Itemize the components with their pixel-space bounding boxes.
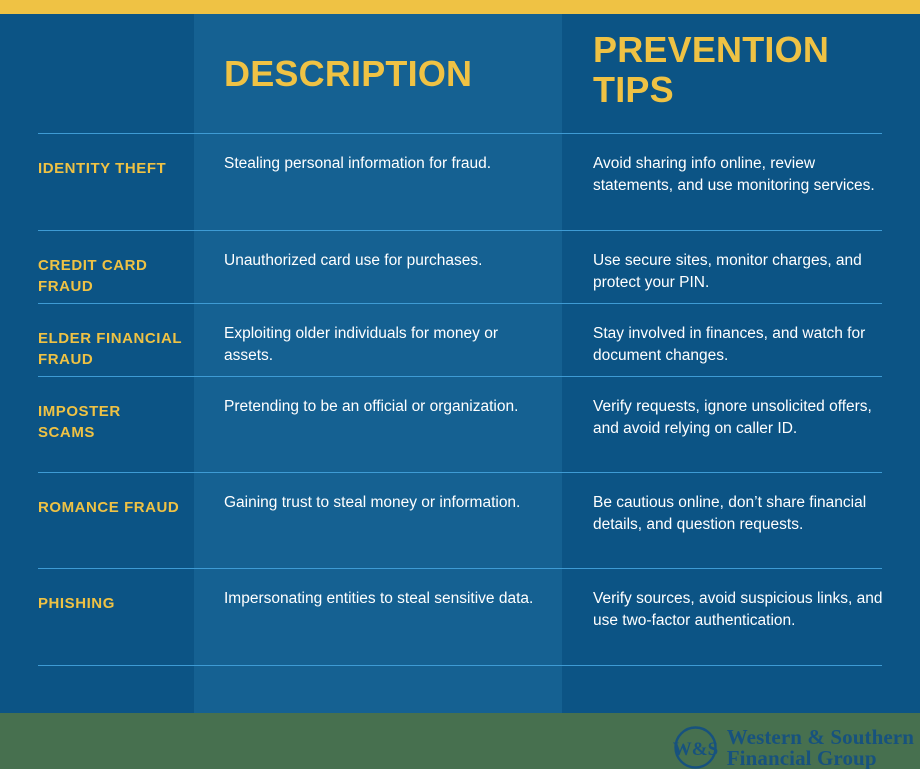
row-cell-prevention: Use secure sites, monitor charges, and p…	[562, 250, 920, 295]
row-cell-description: Stealing personal information for fraud.	[194, 153, 562, 175]
table-row-trailing	[0, 665, 920, 696]
row-divider	[38, 665, 882, 666]
row-cell-prevention: Verify sources, avoid suspicious links, …	[562, 588, 920, 633]
row-divider	[38, 472, 882, 473]
table-row: ROMANCE FRAUD Gaining trust to steal mon…	[0, 472, 920, 568]
header-label-description: DESCRIPTION	[224, 54, 536, 94]
table-row: PHISHING Impersonating entities to steal…	[0, 568, 920, 665]
row-cell-description: Unauthorized card use for purchases.	[194, 250, 562, 272]
fraud-description-text: Gaining trust to steal money or informat…	[224, 492, 536, 514]
row-divider	[38, 376, 882, 377]
header-cell-description: DESCRIPTION	[194, 14, 562, 94]
fraud-type-label: ROMANCE FRAUD	[38, 492, 182, 519]
fraud-description-text: Stealing personal information for fraud.	[224, 153, 536, 175]
row-divider	[38, 230, 882, 231]
row-cell-description: Exploiting older individuals for money o…	[194, 323, 562, 368]
fraud-type-label: PHISHING	[38, 588, 182, 615]
fraud-prevention-text: Use secure sites, monitor charges, and p…	[593, 250, 890, 295]
row-cell-type: IMPOSTER SCAMS	[0, 396, 194, 443]
fraud-description-text: Unauthorized card use for purchases.	[224, 250, 536, 272]
brand-logo: W&S Western & Southern Financial Group	[673, 725, 914, 769]
row-cell-type: ROMANCE FRAUD	[0, 492, 194, 519]
row-cell-prevention: Stay involved in finances, and watch for…	[562, 323, 920, 368]
brand-line-2: Financial Group	[727, 748, 914, 769]
row-cell-type: PHISHING	[0, 588, 194, 615]
table-header-row: DESCRIPTION PREVENTION TIPS	[0, 14, 920, 133]
header-label-prevention: PREVENTION TIPS	[593, 30, 890, 111]
fraud-prevention-text: Be cautious online, don’t share financia…	[593, 492, 890, 537]
row-cell-type: ELDER FINANCIAL FRAUD	[0, 323, 194, 370]
infographic-page: DESCRIPTION PREVENTION TIPS IDENTITY THE…	[0, 0, 920, 769]
brand-wordmark: Western & Southern Financial Group	[727, 727, 914, 768]
row-cell-description: Gaining trust to steal money or informat…	[194, 492, 562, 514]
table-row: ELDER FINANCIAL FRAUD Exploiting older i…	[0, 303, 920, 376]
fraud-comparison-table: DESCRIPTION PREVENTION TIPS IDENTITY THE…	[0, 14, 920, 696]
table-row: IDENTITY THEFT Stealing personal informa…	[0, 133, 920, 230]
fraud-type-label: ELDER FINANCIAL FRAUD	[38, 323, 182, 370]
page-footer: W&S Western & Southern Financial Group	[0, 713, 920, 769]
fraud-prevention-text: Avoid sharing info online, review statem…	[593, 153, 890, 198]
row-cell-type: IDENTITY THEFT	[0, 153, 194, 180]
row-cell-type: CREDIT CARD FRAUD	[0, 250, 194, 297]
row-cell-prevention: Be cautious online, don’t share financia…	[562, 492, 920, 537]
brand-line-1: Western & Southern	[727, 727, 914, 748]
row-cell-description: Pretending to be an official or organiza…	[194, 396, 562, 418]
row-cell-description: Impersonating entities to steal sensitiv…	[194, 588, 562, 610]
fraud-prevention-text: Verify requests, ignore unsolicited offe…	[593, 396, 890, 441]
top-accent-bar	[0, 0, 920, 14]
header-cell-prevention: PREVENTION TIPS	[562, 14, 920, 111]
fraud-type-label: CREDIT CARD FRAUD	[38, 250, 182, 297]
row-divider	[38, 568, 882, 569]
row-cell-prevention: Verify requests, ignore unsolicited offe…	[562, 396, 920, 441]
fraud-description-text: Impersonating entities to steal sensitiv…	[224, 588, 536, 610]
svg-text:W&S: W&S	[673, 739, 718, 760]
table-row: CREDIT CARD FRAUD Unauthorized card use …	[0, 230, 920, 303]
fraud-prevention-text: Stay involved in finances, and watch for…	[593, 323, 890, 368]
ws-monogram-icon: W&S	[673, 725, 718, 769]
row-divider	[38, 133, 882, 134]
fraud-description-text: Exploiting older individuals for money o…	[224, 323, 536, 368]
fraud-description-text: Pretending to be an official or organiza…	[224, 396, 536, 418]
row-divider	[38, 303, 882, 304]
fraud-prevention-text: Verify sources, avoid suspicious links, …	[593, 588, 890, 633]
fraud-type-label: IMPOSTER SCAMS	[38, 396, 182, 443]
table-row: IMPOSTER SCAMS Pretending to be an offic…	[0, 376, 920, 472]
row-cell-prevention: Avoid sharing info online, review statem…	[562, 153, 920, 198]
fraud-type-label: IDENTITY THEFT	[38, 153, 182, 180]
